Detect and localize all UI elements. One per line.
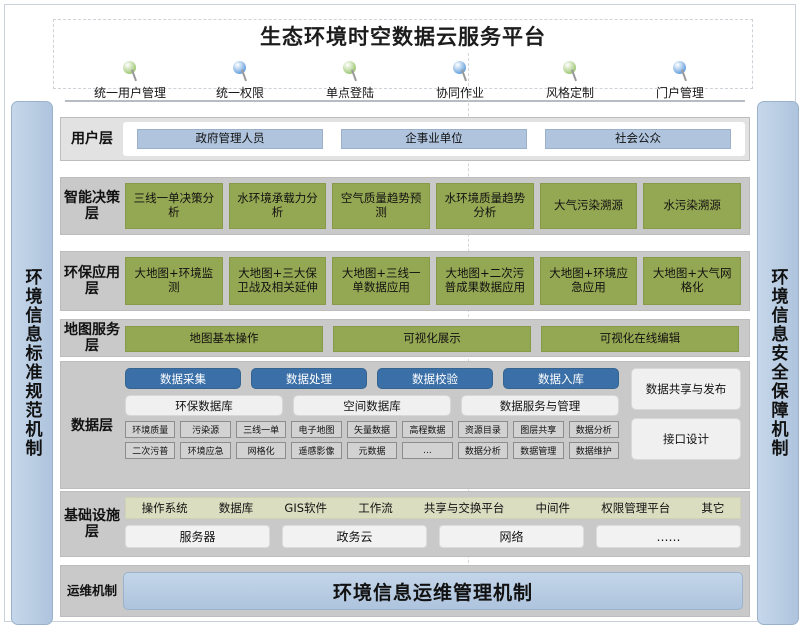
decision-item-1[interactable]: 三线一单决策分析 <box>125 183 223 229</box>
infra-hardware-2[interactable]: 政务云 <box>282 525 427 548</box>
data-right-item-2[interactable]: 接口设计 <box>631 418 741 460</box>
infra-hardware-3[interactable]: 网络 <box>439 525 584 548</box>
decision-item-2[interactable]: 水环境承载力分析 <box>229 183 327 229</box>
data-tag-r1-9[interactable]: 数据分析 <box>569 421 619 438</box>
pin-label: 风格定制 <box>546 84 594 101</box>
pin-label: 统一用户管理 <box>94 84 166 101</box>
layer-decision-items: 三线一单决策分析水环境承载力分析空气质量趋势预测水环境质量趋势分析大气污染溯源水… <box>123 178 749 234</box>
infra-software-2[interactable]: 数据库 <box>219 500 254 516</box>
layer-user: 用户层 政府管理人员企事业单位社会公众 <box>60 117 750 161</box>
database-1[interactable]: 环保数据库 <box>125 395 283 416</box>
decision-item-5[interactable]: 大气污染溯源 <box>540 183 638 229</box>
pin-label: 门户管理 <box>656 84 704 101</box>
data-process-3[interactable]: 数据校验 <box>377 368 493 389</box>
layer-map-service-label: 地图服务层 <box>61 322 123 354</box>
layer-infrastructure-body: 操作系统数据库GIS软件工作流共享与交换平台中间件权限管理平台其它 服务器政务云… <box>123 492 749 556</box>
data-tag-r2-1[interactable]: 二次污普 <box>125 442 175 459</box>
pin-icon <box>560 61 580 83</box>
pin-3[interactable]: 单点登陆 <box>295 61 405 101</box>
application-item-4[interactable]: 大地图+二次污普成果数据应用 <box>436 257 534 305</box>
layer-infrastructure-label: 基础设施层 <box>61 492 123 556</box>
application-item-3[interactable]: 大地图+三线一单数据应用 <box>332 257 430 305</box>
data-tag-r2-8[interactable]: 数据管理 <box>513 442 563 459</box>
layer-map-service-items: 地图基本操作可视化展示可视化在线编辑 <box>123 320 749 356</box>
data-process-1[interactable]: 数据采集 <box>125 368 241 389</box>
data-right-item-1[interactable]: 数据共享与发布 <box>631 368 741 410</box>
pin-icon <box>120 61 140 83</box>
infra-software-7[interactable]: 权限管理平台 <box>601 500 670 516</box>
pin-4[interactable]: 协同作业 <box>405 61 515 101</box>
layer-ops-label: 运维机制 <box>61 584 123 598</box>
user-item-3[interactable]: 社会公众 <box>545 129 731 149</box>
application-item-2[interactable]: 大地图+三大保卫战及相关延伸 <box>229 257 327 305</box>
data-tag-r1-5[interactable]: 矢量数据 <box>347 421 397 438</box>
layer-user-label: 用户层 <box>61 131 123 147</box>
application-item-1[interactable]: 大地图+环境监测 <box>125 257 223 305</box>
layer-data: 数据层 数据采集数据处理数据校验数据入库 环保数据库空间数据库数据服务与管理 环… <box>60 361 750 489</box>
infra-hardware-1[interactable]: 服务器 <box>125 525 270 548</box>
data-tag-r1-1[interactable]: 环境质量 <box>125 421 175 438</box>
pin-label: 单点登陆 <box>326 84 374 101</box>
data-tag-r1-7[interactable]: 资源目录 <box>458 421 508 438</box>
layer-decision: 智能决策层 三线一单决策分析水环境承载力分析空气质量趋势预测水环境质量趋势分析大… <box>60 177 750 235</box>
pin-2[interactable]: 统一权限 <box>185 61 295 101</box>
pin-5[interactable]: 风格定制 <box>515 61 625 101</box>
data-tag-r2-7[interactable]: 数据分析 <box>458 442 508 459</box>
data-tag-r2-3[interactable]: 网格化 <box>236 442 286 459</box>
layer-data-body: 数据采集数据处理数据校验数据入库 环保数据库空间数据库数据服务与管理 环境质量污… <box>123 362 627 488</box>
infra-software-5[interactable]: 共享与交换平台 <box>424 500 505 516</box>
data-tags-row-2: 二次污普环境应急网格化遥感影像元数据...数据分析数据管理数据维护 <box>125 442 619 459</box>
data-right-column: 数据共享与发布接口设计 <box>627 362 749 488</box>
pin-1[interactable]: 统一用户管理 <box>75 61 185 101</box>
page-title: 生态环境时空数据云服务平台 <box>53 19 753 53</box>
layer-map-service: 地图服务层 地图基本操作可视化展示可视化在线编辑 <box>60 319 750 357</box>
data-tag-r1-8[interactable]: 图层共享 <box>513 421 563 438</box>
data-process-4[interactable]: 数据入库 <box>503 368 619 389</box>
layer-application: 环保应用层 大地图+环境监测大地图+三大保卫战及相关延伸大地图+三线一单数据应用… <box>60 251 750 311</box>
data-tag-r2-5[interactable]: 元数据 <box>347 442 397 459</box>
data-process-2[interactable]: 数据处理 <box>251 368 367 389</box>
infra-software-6[interactable]: 中间件 <box>536 500 571 516</box>
pin-label: 协同作业 <box>436 84 484 101</box>
layer-user-items: 政府管理人员企事业单位社会公众 <box>123 122 745 156</box>
pin-icon <box>670 61 690 83</box>
data-tag-r1-6[interactable]: 高程数据 <box>402 421 452 438</box>
infra-software-8[interactable]: 其它 <box>701 500 724 516</box>
infra-software-3[interactable]: GIS软件 <box>284 500 327 516</box>
data-tag-r1-3[interactable]: 三线一单 <box>236 421 286 438</box>
pin-label: 统一权限 <box>216 84 264 101</box>
map-service-item-2[interactable]: 可视化展示 <box>333 326 531 352</box>
data-tag-r2-9[interactable]: 数据维护 <box>569 442 619 459</box>
pin-icon <box>450 61 470 83</box>
data-tags: 环境质量污染源三线一单电子地图矢量数据高程数据资源目录图层共享数据分析 二次污普… <box>125 421 619 459</box>
pin-icon <box>230 61 250 83</box>
ops-banner: 环境信息运维管理机制 <box>123 572 743 610</box>
data-tag-r1-2[interactable]: 污染源 <box>180 421 230 438</box>
data-process-buttons: 数据采集数据处理数据校验数据入库 <box>125 368 619 389</box>
layer-data-label: 数据层 <box>61 362 123 488</box>
data-tags-row-1: 环境质量污染源三线一单电子地图矢量数据高程数据资源目录图层共享数据分析 <box>125 421 619 438</box>
user-item-2[interactable]: 企事业单位 <box>341 129 527 149</box>
map-service-item-3[interactable]: 可视化在线编辑 <box>541 326 739 352</box>
left-panel-label: 环境信息标准规范机制 <box>20 268 45 458</box>
data-databases: 环保数据库空间数据库数据服务与管理 <box>125 395 619 416</box>
application-item-5[interactable]: 大地图+环境应急应用 <box>540 257 638 305</box>
right-panel-security: 环境信息安全保障机制 <box>757 101 799 625</box>
layer-decision-label: 智能决策层 <box>61 190 123 222</box>
decision-item-6[interactable]: 水污染溯源 <box>643 183 741 229</box>
data-tag-r2-4[interactable]: 遥感影像 <box>291 442 341 459</box>
application-item-6[interactable]: 大地图+大气网格化 <box>643 257 741 305</box>
infrastructure-software: 操作系统数据库GIS软件工作流共享与交换平台中间件权限管理平台其它 <box>125 497 741 519</box>
platform-services-pins: 统一用户管理统一权限单点登陆协同作业风格定制门户管理 <box>75 57 735 101</box>
layer-application-items: 大地图+环境监测大地图+三大保卫战及相关延伸大地图+三线一单数据应用大地图+二次… <box>123 252 749 310</box>
layer-application-label: 环保应用层 <box>61 265 123 297</box>
pin-6[interactable]: 门户管理 <box>625 61 735 101</box>
left-panel-standards: 环境信息标准规范机制 <box>11 101 53 625</box>
infra-software-4[interactable]: 工作流 <box>358 500 393 516</box>
data-tag-r1-4[interactable]: 电子地图 <box>291 421 341 438</box>
header-divider <box>65 100 745 102</box>
decision-item-3[interactable]: 空气质量趋势预测 <box>332 183 430 229</box>
data-tag-r2-6[interactable]: ... <box>402 442 452 459</box>
right-panel-label: 环境信息安全保障机制 <box>766 268 791 458</box>
infra-hardware-4[interactable]: …… <box>596 525 741 548</box>
diagram-frame: 生态环境时空数据云服务平台 统一用户管理统一权限单点登陆协同作业风格定制门户管理… <box>4 4 796 622</box>
decision-item-4[interactable]: 水环境质量趋势分析 <box>436 183 534 229</box>
layer-infrastructure: 基础设施层 操作系统数据库GIS软件工作流共享与交换平台中间件权限管理平台其它 … <box>60 491 750 557</box>
database-2[interactable]: 空间数据库 <box>293 395 451 416</box>
user-item-1[interactable]: 政府管理人员 <box>137 129 323 149</box>
infra-software-1[interactable]: 操作系统 <box>142 500 188 516</box>
data-tag-r2-2[interactable]: 环境应急 <box>180 442 230 459</box>
database-3[interactable]: 数据服务与管理 <box>461 395 619 416</box>
layer-ops: 运维机制 环境信息运维管理机制 <box>60 565 750 617</box>
pin-icon <box>340 61 360 83</box>
map-service-item-1[interactable]: 地图基本操作 <box>125 326 323 352</box>
infrastructure-hardware: 服务器政务云网络…… <box>125 525 741 548</box>
